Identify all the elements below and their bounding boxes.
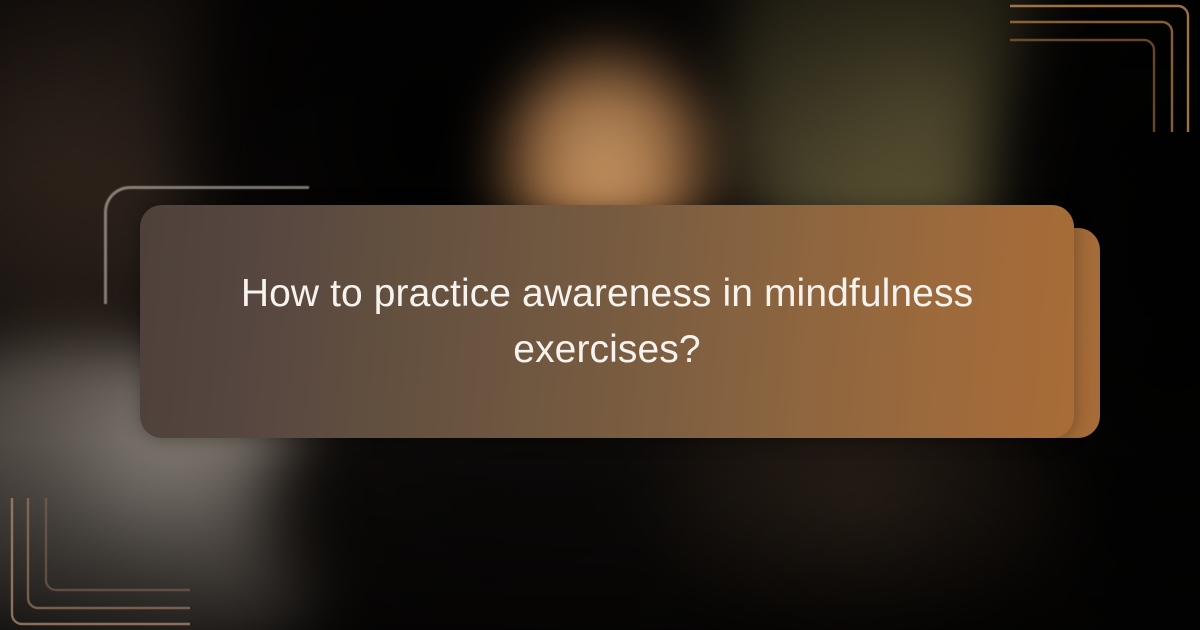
card-stack: How to practice awareness in mindfulness… <box>0 0 1200 630</box>
headline-text: How to practice awareness in mindfulness… <box>207 266 1007 377</box>
headline-card: How to practice awareness in mindfulness… <box>140 205 1074 438</box>
poster-canvas: How to practice awareness in mindfulness… <box>0 0 1200 630</box>
